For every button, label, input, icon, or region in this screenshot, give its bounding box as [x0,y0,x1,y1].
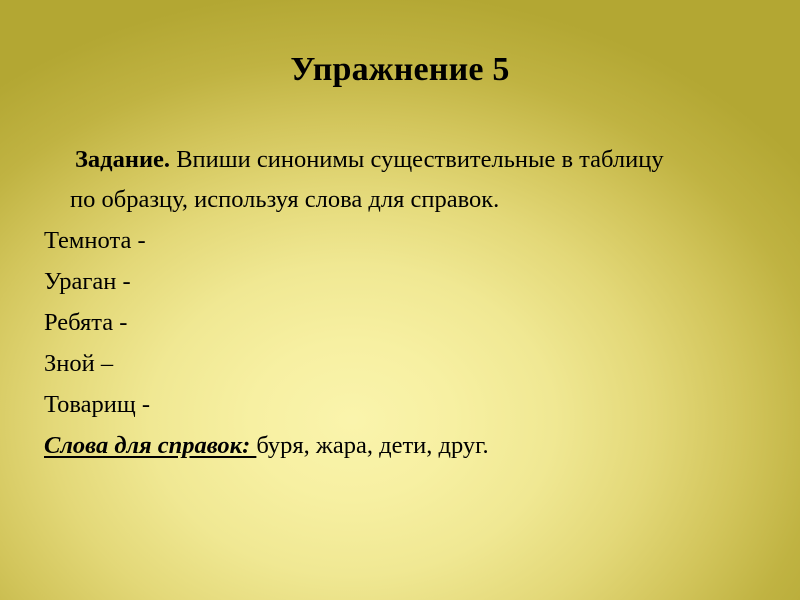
list-item-label: Товарищ - [44,391,150,418]
presentation-slide: Упражнение 5 Задание. Впиши синонимы сущ… [0,0,800,600]
reference-words-list: буря, жара, дети, друг. [256,432,488,459]
task-label: Задание. [75,146,170,173]
list-item: Товарищ - [44,384,694,425]
slide-body: Задание. Впиши синонимы существительные … [44,140,694,466]
list-item: Зной – [44,343,694,384]
reference-words-label: Слова для справок: [44,432,256,459]
list-item: Ребята - [44,302,694,343]
slide-title: Упражнение 5 [0,49,800,91]
list-item-label: Зной – [44,350,113,377]
list-item: Темнота - [44,220,694,261]
list-item: Ураган - [44,261,694,302]
list-item-label: Ураган - [44,268,131,295]
reference-words-line: Слова для справок: буря, жара, дети, дру… [44,425,694,466]
list-item-label: Темнота - [44,227,146,254]
task-paragraph: Задание. Впиши синонимы существительные … [44,140,694,220]
list-item-label: Ребята - [44,309,127,336]
